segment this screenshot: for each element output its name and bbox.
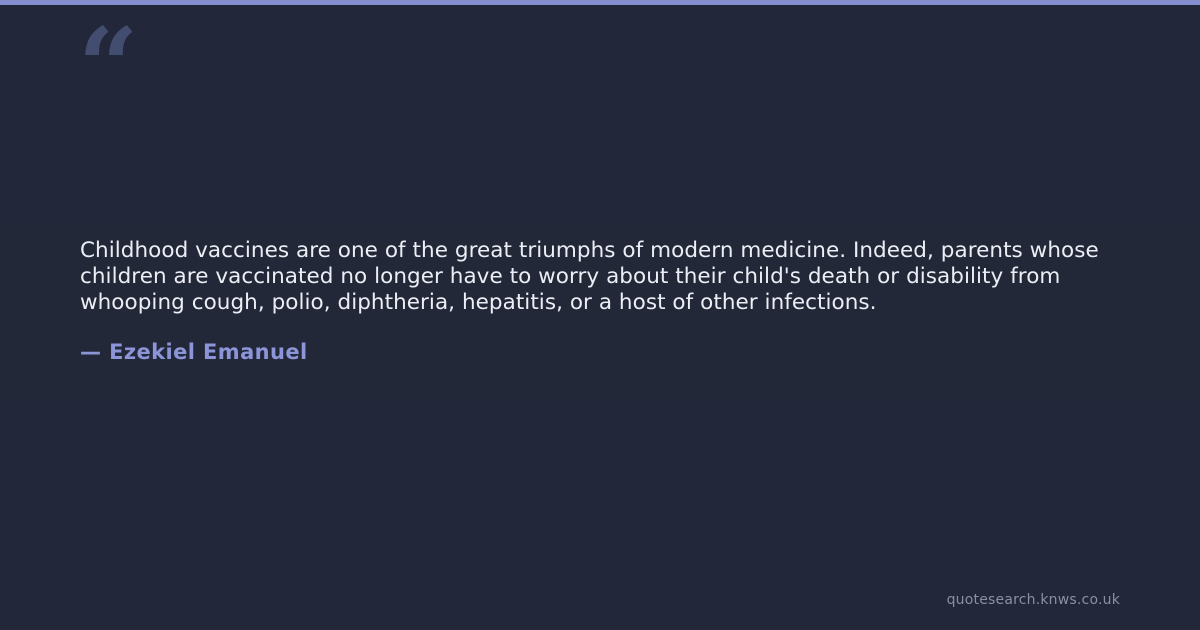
- site-watermark: quotesearch.knws.co.uk: [947, 592, 1120, 608]
- quote-body: Childhood vaccines are one of the great …: [80, 238, 1110, 315]
- quotation-mark-icon: “: [78, 14, 136, 119]
- background-band-top: [0, 0, 1200, 220]
- quote-text: Childhood vaccines are one of the great …: [80, 238, 1110, 315]
- top-accent-bar: [0, 0, 1200, 5]
- quote-card: “ Childhood vaccines are one of the grea…: [0, 0, 1200, 630]
- quote-author: — Ezekiel Emanuel: [80, 340, 308, 364]
